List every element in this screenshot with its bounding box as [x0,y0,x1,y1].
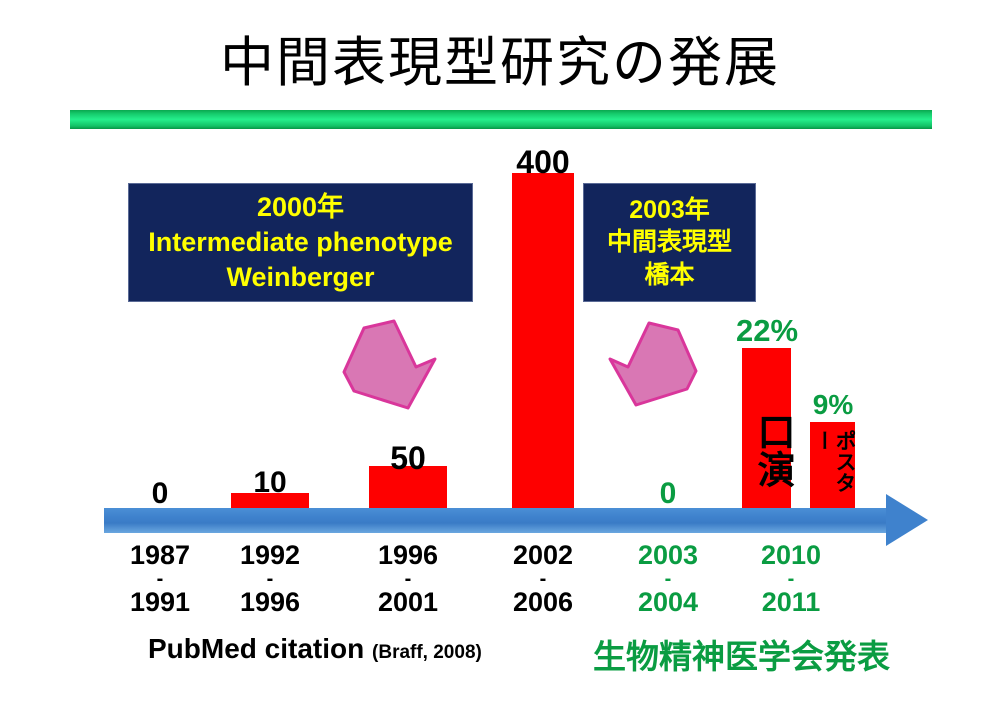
callout-2003-line-1: 2003年 [629,194,710,227]
x-tick-2002-2006: 2002 - 2006 [491,541,595,616]
bar-label-0-2003: 0 [640,477,696,511]
callout-box-2003: 2003年 中間表現型 橋本 [583,183,756,302]
callout-2000-line-2: Intermediate phenotype [148,225,453,260]
x-tick-2010-2011-bottom: 2011 [762,587,821,617]
slide-canvas: 中間表現型研究の発展 2000年 Intermediate phenotype … [0,0,1000,706]
x-tick-2003-2004-bottom: 2004 [638,587,698,617]
x-tick-1987-1991-dash: - [108,570,212,588]
x-tick-2002-2006-top: 2002 [513,540,573,570]
bar-label-9pct: 9% [803,389,863,421]
x-tick-2002-2006-bottom: 2006 [513,587,573,617]
timeline-axis-arrowhead [886,494,928,546]
x-tick-2010-2011-top: 2010 [761,540,821,570]
bar-oral-inner-label: 口演 [742,392,791,508]
bar-2010-2011-poster: ポスター [810,422,855,512]
x-tick-1996-2001-bottom: 2001 [378,587,438,617]
callout-2000-line-1: 2000年 [257,190,344,225]
title-underline-rule [70,110,932,129]
x-tick-2003-2004-top: 2003 [638,540,698,570]
callout-2003-line-3: 橋本 [644,259,694,292]
callout-2000-line-3: Weinberger [226,260,374,295]
pink-down-arrow-right [600,308,704,412]
bar-label-0-1987: 0 [130,477,190,511]
x-tick-1987-1991-top: 1987 [130,540,190,570]
x-tick-1992-1996: 1992 - 1996 [218,541,322,616]
footnote-pubmed: PubMed citation (Braff, 2008) [148,633,482,665]
callout-2003-line-2: 中間表現型 [607,226,732,259]
bar-label-22pct: 22% [728,313,806,349]
pink-down-arrow-left [336,305,446,415]
callout-box-2000: 2000年 Intermediate phenotype Weinberger [128,183,473,302]
x-tick-1992-1996-bottom: 1996 [240,587,300,617]
bar-label-10: 10 [240,466,300,500]
footnote-pubmed-main: PubMed citation [148,633,364,664]
x-tick-2002-2006-dash: - [491,570,595,588]
page-title: 中間表現型研究の発展 [0,36,1000,90]
x-tick-1996-2001-top: 1996 [378,540,438,570]
x-tick-2010-2011-dash: - [739,570,843,588]
x-tick-2010-2011: 2010 - 2011 [739,541,843,616]
footnote-pubmed-citation: (Braff, 2008) [372,642,482,663]
x-tick-1996-2001: 1996 - 2001 [356,541,460,616]
bar-label-400: 400 [500,144,586,181]
x-tick-1987-1991: 1987 - 1991 [108,541,212,616]
bar-label-50: 50 [378,440,438,477]
x-tick-1996-2001-dash: - [356,570,460,588]
footnote-society: 生物精神医学会発表 [593,630,890,678]
bar-2010-2011-oral: 口演 [742,348,791,512]
x-tick-1992-1996-dash: - [218,570,322,588]
bar-2002-2006 [512,173,574,512]
x-tick-2003-2004-dash: - [616,570,720,588]
bar-poster-inner-label: ポスター [810,430,855,510]
x-tick-2003-2004: 2003 - 2004 [616,541,720,616]
timeline-axis [104,508,894,533]
x-tick-1987-1991-bottom: 1991 [130,587,190,617]
x-tick-1992-1996-top: 1992 [240,540,300,570]
